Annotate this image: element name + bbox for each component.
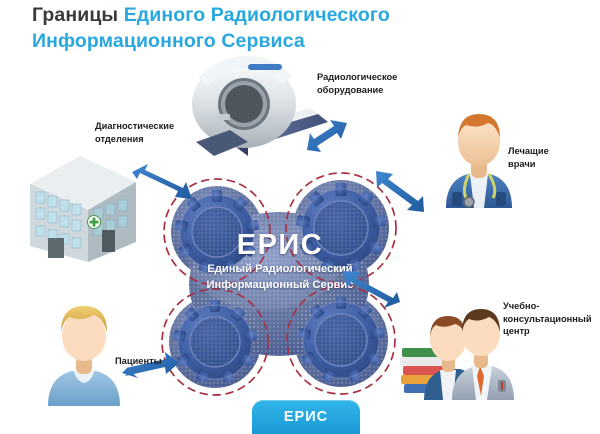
label-training-consulting-center: Учебно- консультационный центр xyxy=(503,300,592,338)
label-patients: Пациенты xyxy=(115,355,162,368)
eris-bottom-tab-label: ЕРИС xyxy=(284,409,328,425)
arrow-physicians xyxy=(376,171,424,212)
arrow-training-center xyxy=(343,271,400,308)
hospital-building-icon xyxy=(18,138,146,266)
students-books-icon xyxy=(398,282,520,400)
label-diagnostic-departments: Диагностические отделения xyxy=(95,120,174,145)
label-attending-physicians: Лечащие врачи xyxy=(508,145,549,170)
ct-scanner-icon xyxy=(178,52,328,170)
label-radiology-equipment: Радиологическое оборудование xyxy=(317,71,397,96)
green-cross-icon xyxy=(88,216,101,229)
infographic-canvas: Границы Единого Радиологического Информа… xyxy=(0,0,600,429)
patient-avatar-icon xyxy=(36,300,136,406)
